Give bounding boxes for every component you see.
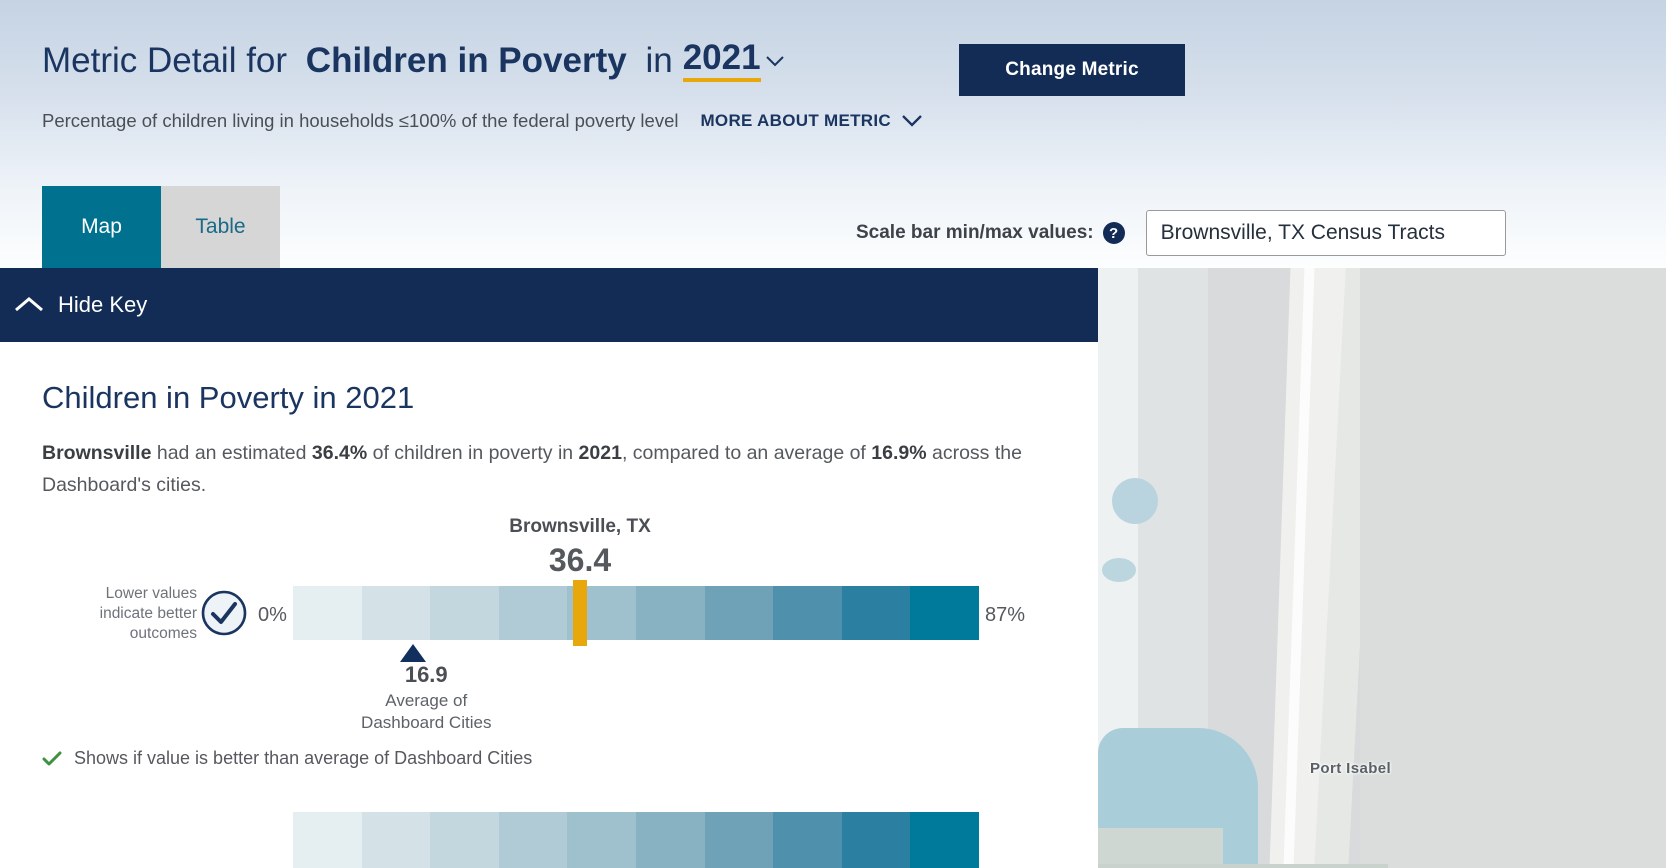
title-in-word: in (645, 41, 672, 80)
scale-bar-segment (910, 812, 979, 868)
scale-bar-segment (362, 586, 431, 640)
scale-bar-segment (705, 586, 774, 640)
metric-description: Percentage of children living in househo… (42, 110, 678, 132)
scale-bar-segment (636, 812, 705, 868)
secondary-scale-bar (293, 812, 979, 868)
scale-max-label: 87% (985, 604, 1025, 627)
hide-key-label: Hide Key (58, 292, 147, 318)
chevron-up-icon (12, 288, 46, 322)
lower-values-note: Lower values indicate better outcomes (62, 584, 197, 643)
map-landmass-patch (1098, 828, 1223, 868)
scale-bar-segment (636, 586, 705, 640)
metric-subtitle-row: Percentage of children living in househo… (42, 110, 923, 132)
hide-key-bar[interactable]: Hide Key (0, 268, 1098, 342)
more-about-metric-toggle[interactable]: MORE ABOUT METRIC (700, 111, 923, 131)
page-header: Metric Detail for Children in Poverty in… (0, 0, 1666, 268)
map-pond-shape (1112, 478, 1158, 524)
scale-bar-segment (773, 812, 842, 868)
more-about-metric-label: MORE ABOUT METRIC (700, 111, 891, 131)
chevron-down-icon (766, 55, 784, 67)
scale-bar-segment (362, 812, 431, 868)
key-legend-text: Shows if value is better than average of… (74, 748, 532, 769)
map-landmass-patch-lower (1098, 864, 1388, 868)
scale-bar-segment (842, 586, 911, 640)
chevron-down-icon (901, 114, 923, 128)
map-place-label: Port Isabel (1310, 760, 1391, 777)
scale-bar-segment (430, 812, 499, 868)
average-caption: Average of Dashboard Cities (361, 690, 491, 735)
scale-bar-segment (567, 812, 636, 868)
scale-bar-segment (773, 586, 842, 640)
map-pond-small-shape (1102, 558, 1136, 582)
city-value-marker (573, 580, 587, 646)
average-value: 16.9 (405, 662, 448, 688)
view-tabs: Map Table (42, 186, 280, 268)
key-description: Brownsville had an estimated 36.4% of ch… (42, 438, 1062, 501)
change-metric-button[interactable]: Change Metric (959, 44, 1185, 96)
key-legend-row: Shows if value is better than average of… (42, 748, 532, 769)
scale-bar-segment (293, 812, 362, 868)
map-ocean (1360, 268, 1666, 868)
year-value: 2021 (683, 40, 761, 82)
scale-bar-gradient (293, 586, 979, 640)
city-marker-value: 36.4 (549, 542, 611, 579)
scale-bar-segment (705, 812, 774, 868)
question-mark-icon[interactable]: ? (1103, 222, 1125, 244)
geography-select-value: Brownsville, TX Census Tracts (1161, 221, 1445, 245)
average-caption-line-1: Average of (361, 690, 491, 712)
green-check-icon (42, 749, 62, 769)
tab-map[interactable]: Map (42, 186, 161, 268)
scale-bar-segment (842, 812, 911, 868)
scale-bar-segment (293, 586, 362, 640)
page-title: Metric Detail for Children in Poverty in… (42, 40, 784, 82)
average-caption-line-2: Dashboard Cities (361, 712, 491, 734)
key-title: Children in Poverty in 2021 (42, 380, 414, 416)
city-marker-label: Brownsville, TX (509, 516, 650, 538)
scale-bar-segment (499, 586, 568, 640)
metric-name: Children in Poverty (306, 41, 627, 80)
geography-select[interactable]: Brownsville, TX Census Tracts (1146, 210, 1506, 256)
scale-bar-visualization: Brownsville, TX 36.4 Lower values indica… (0, 510, 1098, 770)
scale-bar-control: Scale bar min/max values: ? Brownsville,… (856, 210, 1506, 256)
map-canvas[interactable]: Port Isabel (1098, 268, 1666, 868)
scale-bar-segment (910, 586, 979, 640)
year-selector[interactable]: 2021 (683, 40, 784, 82)
key-overflow-strip (0, 802, 1098, 868)
scale-bar-segment (430, 586, 499, 640)
scale-bar-segment (499, 812, 568, 868)
metric-key-panel: Children in Poverty in 2021 Brownsville … (0, 342, 1098, 802)
title-prefix: Metric Detail for (42, 41, 287, 80)
scale-bar-label: Scale bar min/max values: (856, 222, 1094, 244)
check-circle-icon (201, 590, 247, 636)
tab-table[interactable]: Table (161, 186, 280, 268)
metric-detail-page: Metric Detail for Children in Poverty in… (0, 0, 1666, 868)
scale-min-label: 0% (258, 604, 287, 627)
